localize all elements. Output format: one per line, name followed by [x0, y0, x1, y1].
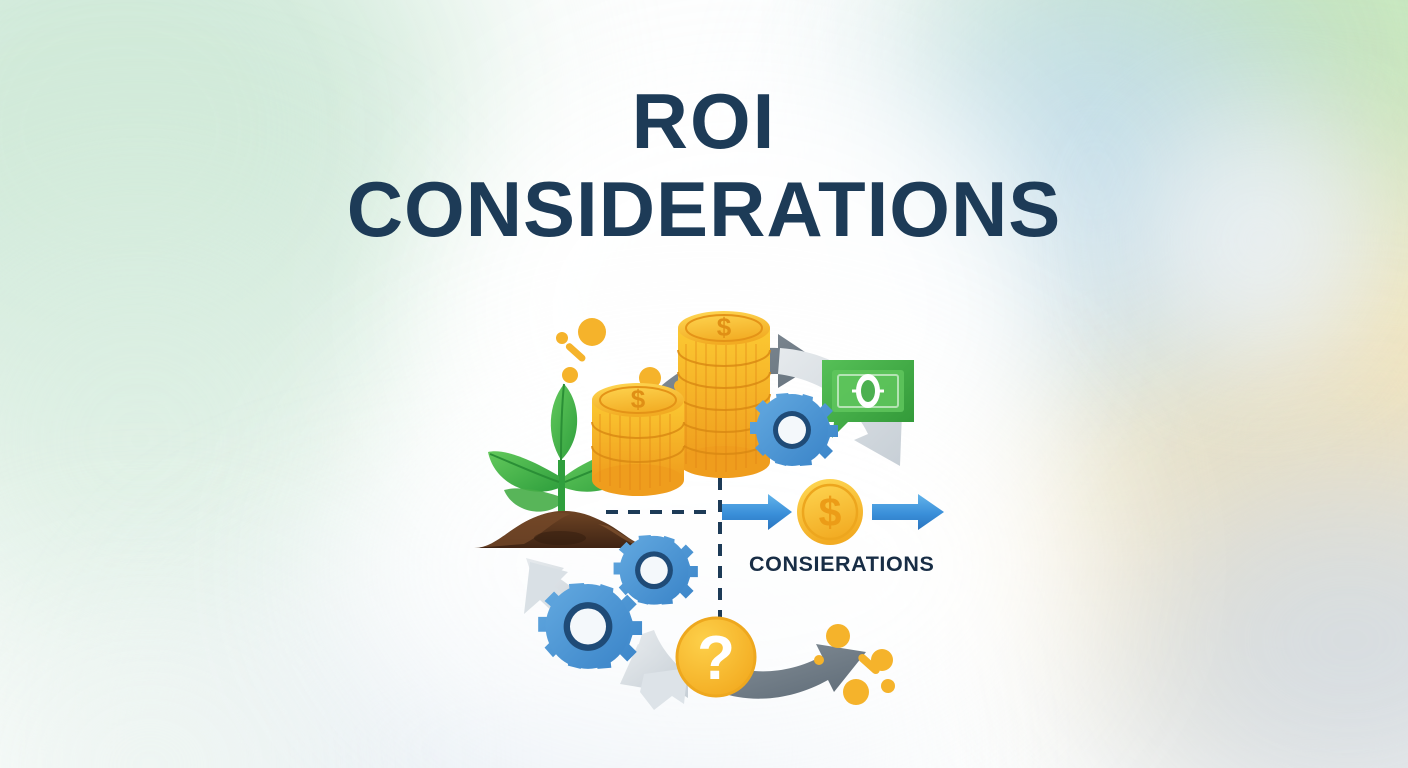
title-line-roi: ROI	[0, 82, 1408, 162]
svg-text:$: $	[819, 489, 842, 535]
poster-canvas: ROI CONSIDERATIONS	[0, 0, 1408, 768]
svg-text:$: $	[717, 312, 732, 342]
svg-text:$: $	[631, 384, 646, 414]
illustration-inline-label: CONSIERATIONS	[749, 552, 934, 577]
question-mark-coin-icon: ?	[677, 618, 755, 696]
coin-stack-short-icon: $	[592, 383, 684, 496]
gear-blue-large-icon	[538, 583, 642, 669]
title-line-considerations: CONSIDERATIONS	[0, 170, 1408, 250]
svg-text:?: ?	[697, 624, 735, 693]
gear-blue-right-icon	[750, 393, 838, 466]
arrow-blue-left-icon	[722, 494, 792, 530]
coin-stack-tall-icon: $	[678, 311, 770, 478]
roi-illustration: $ $	[448, 300, 968, 740]
arrow-blue-right-icon	[872, 494, 944, 530]
gear-blue-small-icon	[614, 535, 698, 605]
page-title: ROI CONSIDERATIONS	[0, 82, 1408, 249]
dollar-coin-icon: $	[797, 479, 863, 545]
